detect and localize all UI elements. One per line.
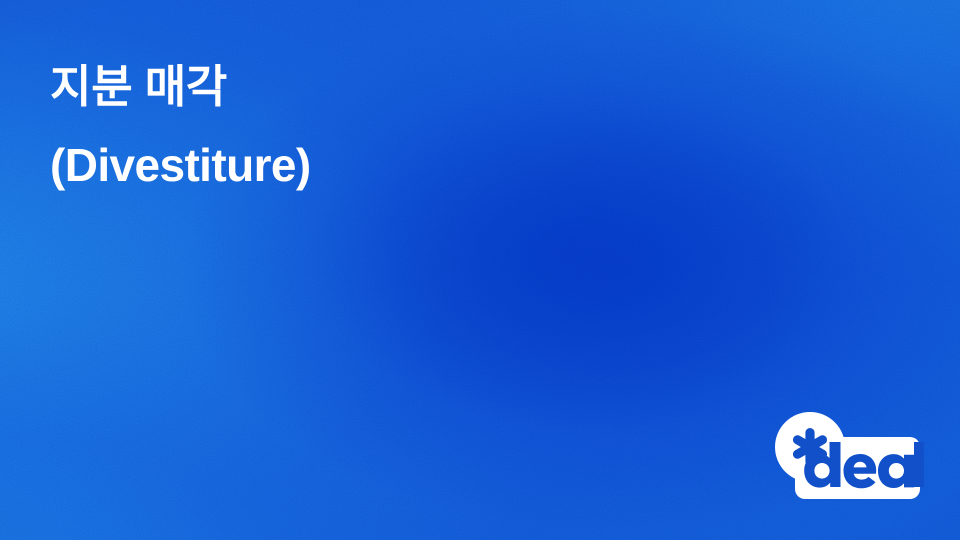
page-title: 지분 매각 (Divestiture) (50, 48, 670, 204)
deal-logo (772, 408, 924, 504)
title-line-korean: 지분 매각 (50, 48, 670, 126)
title-line-english: (Divestiture) (50, 126, 670, 204)
title-slide: 지분 매각 (Divestiture) (0, 0, 960, 540)
